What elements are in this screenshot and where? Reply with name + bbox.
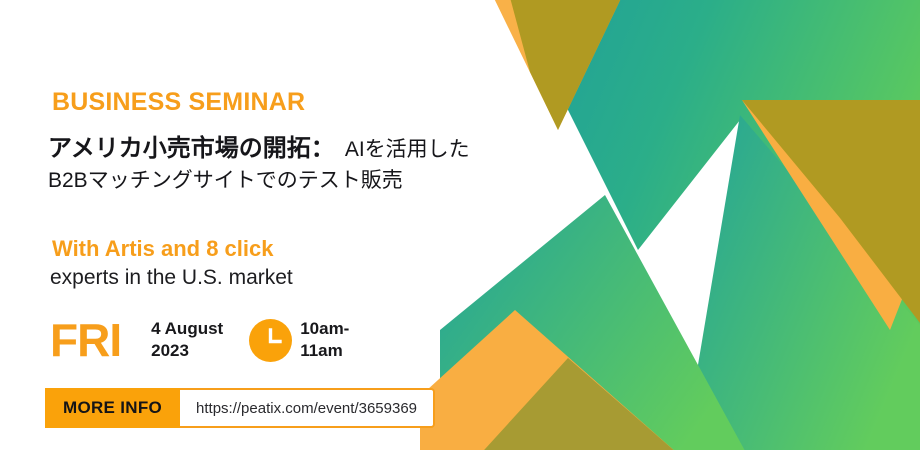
date-time-row: FRI 4 August 2023 10am- 11am — [50, 305, 349, 375]
time-line-1: 10am- — [300, 318, 349, 340]
poster-content: BUSINESS SEMINAR アメリカ小売市場の開拓：AIを活用した B2B… — [0, 0, 520, 450]
clock-icon — [249, 319, 292, 362]
eyebrow-label: BUSINESS SEMINAR — [52, 88, 305, 117]
page-title: アメリカ小売市場の開拓：AIを活用した B2Bマッチングサイトでのテスト販売 — [48, 133, 518, 194]
experts-line: experts in the U.S. market — [50, 266, 293, 290]
date-block: 4 August 2023 — [151, 318, 223, 362]
partners-line: With Artis and 8 click — [52, 236, 273, 262]
day-abbreviation: FRI — [50, 317, 121, 363]
time-block: 10am- 11am — [300, 318, 349, 362]
more-info-button[interactable]: MORE INFO — [45, 388, 180, 428]
headline-line1-main: アメリカ小売市場の開拓： — [48, 135, 335, 162]
headline-line2: B2Bマッチングサイトでのテスト販売 — [48, 167, 518, 194]
more-info-bar[interactable]: MORE INFO https://peatix.com/event/36593… — [45, 388, 435, 428]
date-line-2: 2023 — [151, 340, 223, 362]
headline-line1-sub: AIを活用した — [335, 138, 470, 161]
seminar-poster: BUSINESS SEMINAR アメリカ小売市場の開拓：AIを活用した B2B… — [0, 0, 920, 450]
date-line-1: 4 August — [151, 318, 223, 340]
event-url-link[interactable]: https://peatix.com/event/3659369 — [180, 388, 435, 428]
time-line-2: 11am — [300, 340, 349, 362]
